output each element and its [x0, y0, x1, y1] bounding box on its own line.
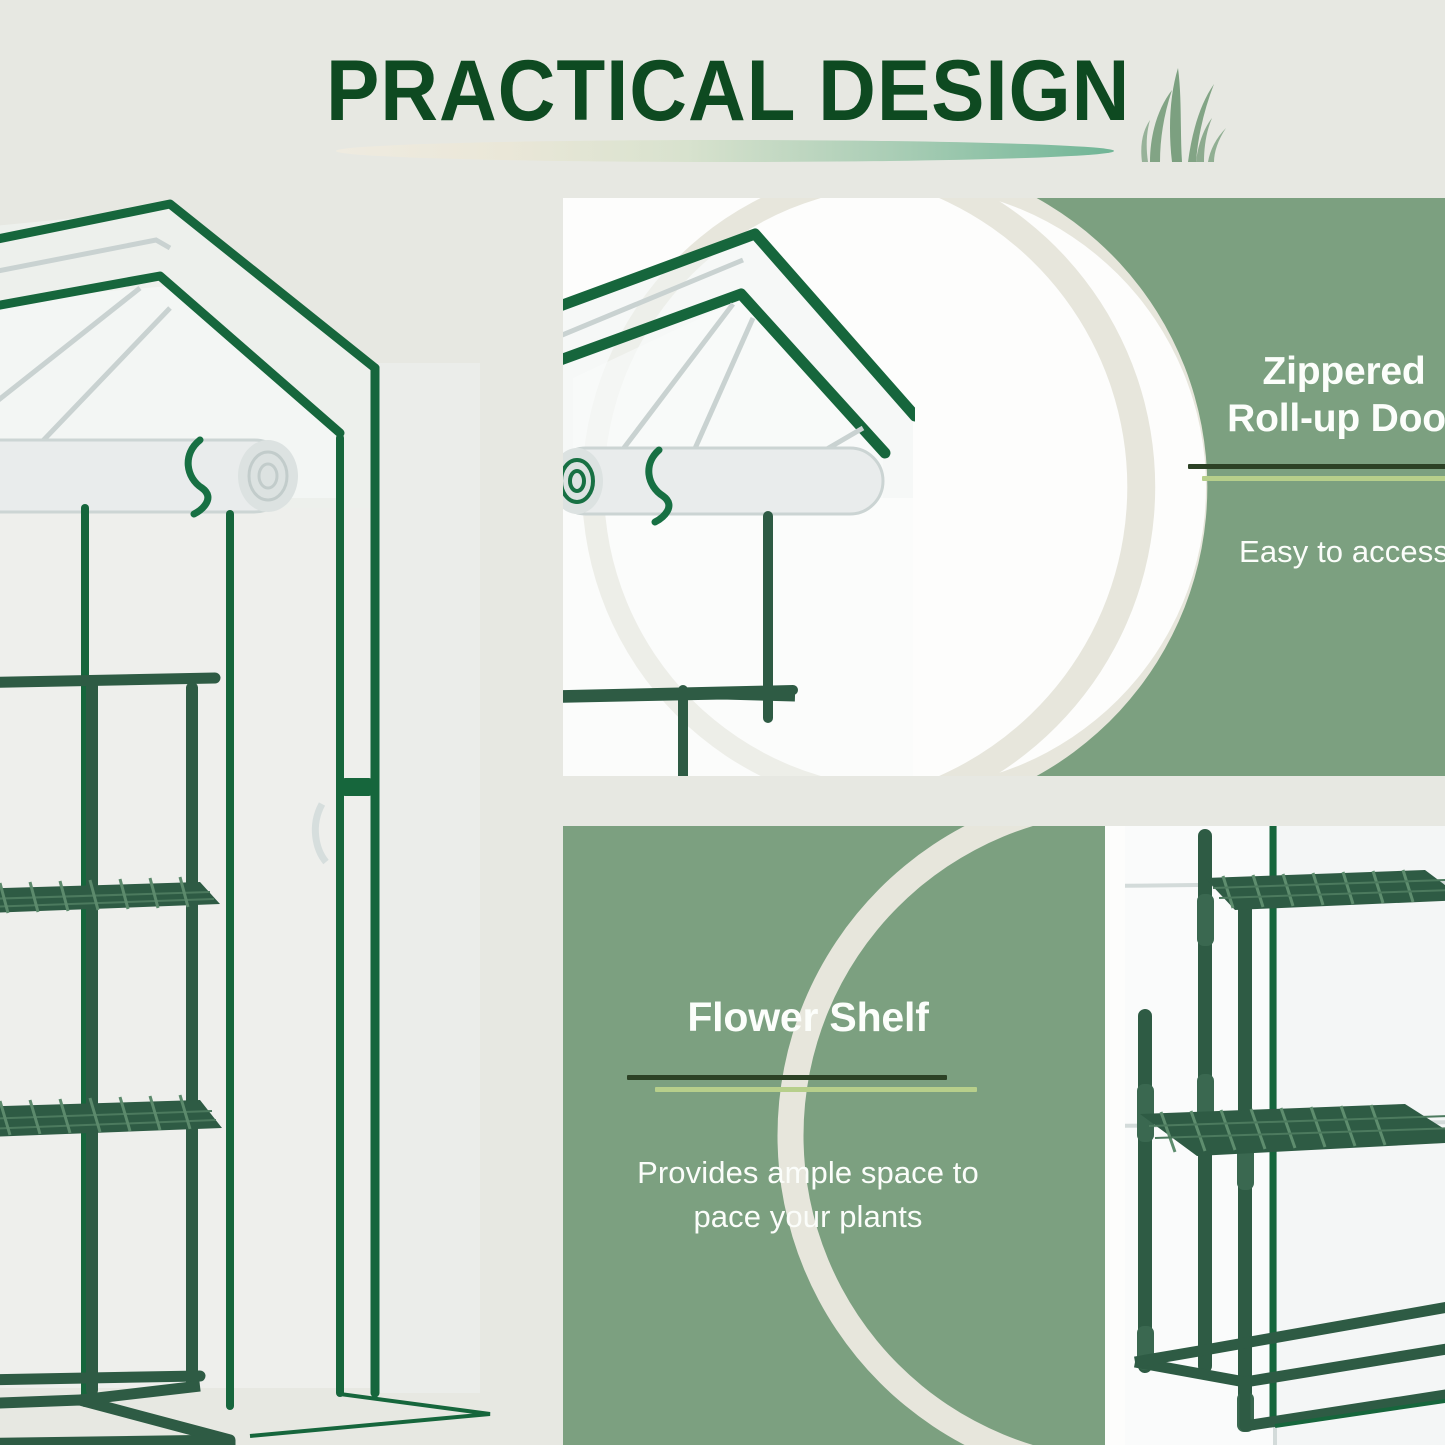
shelf-panel-text: Flower Shelf Provides ample space to pac…	[593, 994, 1023, 1239]
feature-panel-flower-shelf: Flower Shelf Provides ample space to pac…	[563, 826, 1445, 1445]
door-panel-text: Zippered Roll-up Door Easy to access	[1188, 348, 1445, 574]
shelf-panel-divider	[593, 1075, 1023, 1095]
divider-dark-line	[627, 1075, 947, 1080]
divider-light-line	[1202, 476, 1445, 481]
main-product-photo	[0, 178, 570, 1445]
grass-icon	[1138, 58, 1230, 166]
header: PRACTICAL DESIGN	[0, 0, 1445, 185]
shelf-panel-subtext: Provides ample space to pace your plants	[593, 1151, 1023, 1239]
door-panel-subtext: Easy to access	[1188, 530, 1445, 574]
divider-dark-line	[1188, 464, 1445, 469]
door-panel-heading: Zippered Roll-up Door	[1188, 348, 1445, 442]
door-detail-photo	[563, 198, 1223, 776]
door-panel-divider	[1188, 464, 1445, 484]
feature-panel-zippered-roll-up-door: Zippered Roll-up Door Easy to access	[563, 198, 1445, 776]
page-title: PRACTICAL DESIGN	[326, 48, 1130, 134]
shelf-panel-heading: Flower Shelf	[593, 994, 1023, 1041]
divider-light-line	[655, 1087, 977, 1092]
title-underline-swoosh	[336, 140, 1114, 162]
